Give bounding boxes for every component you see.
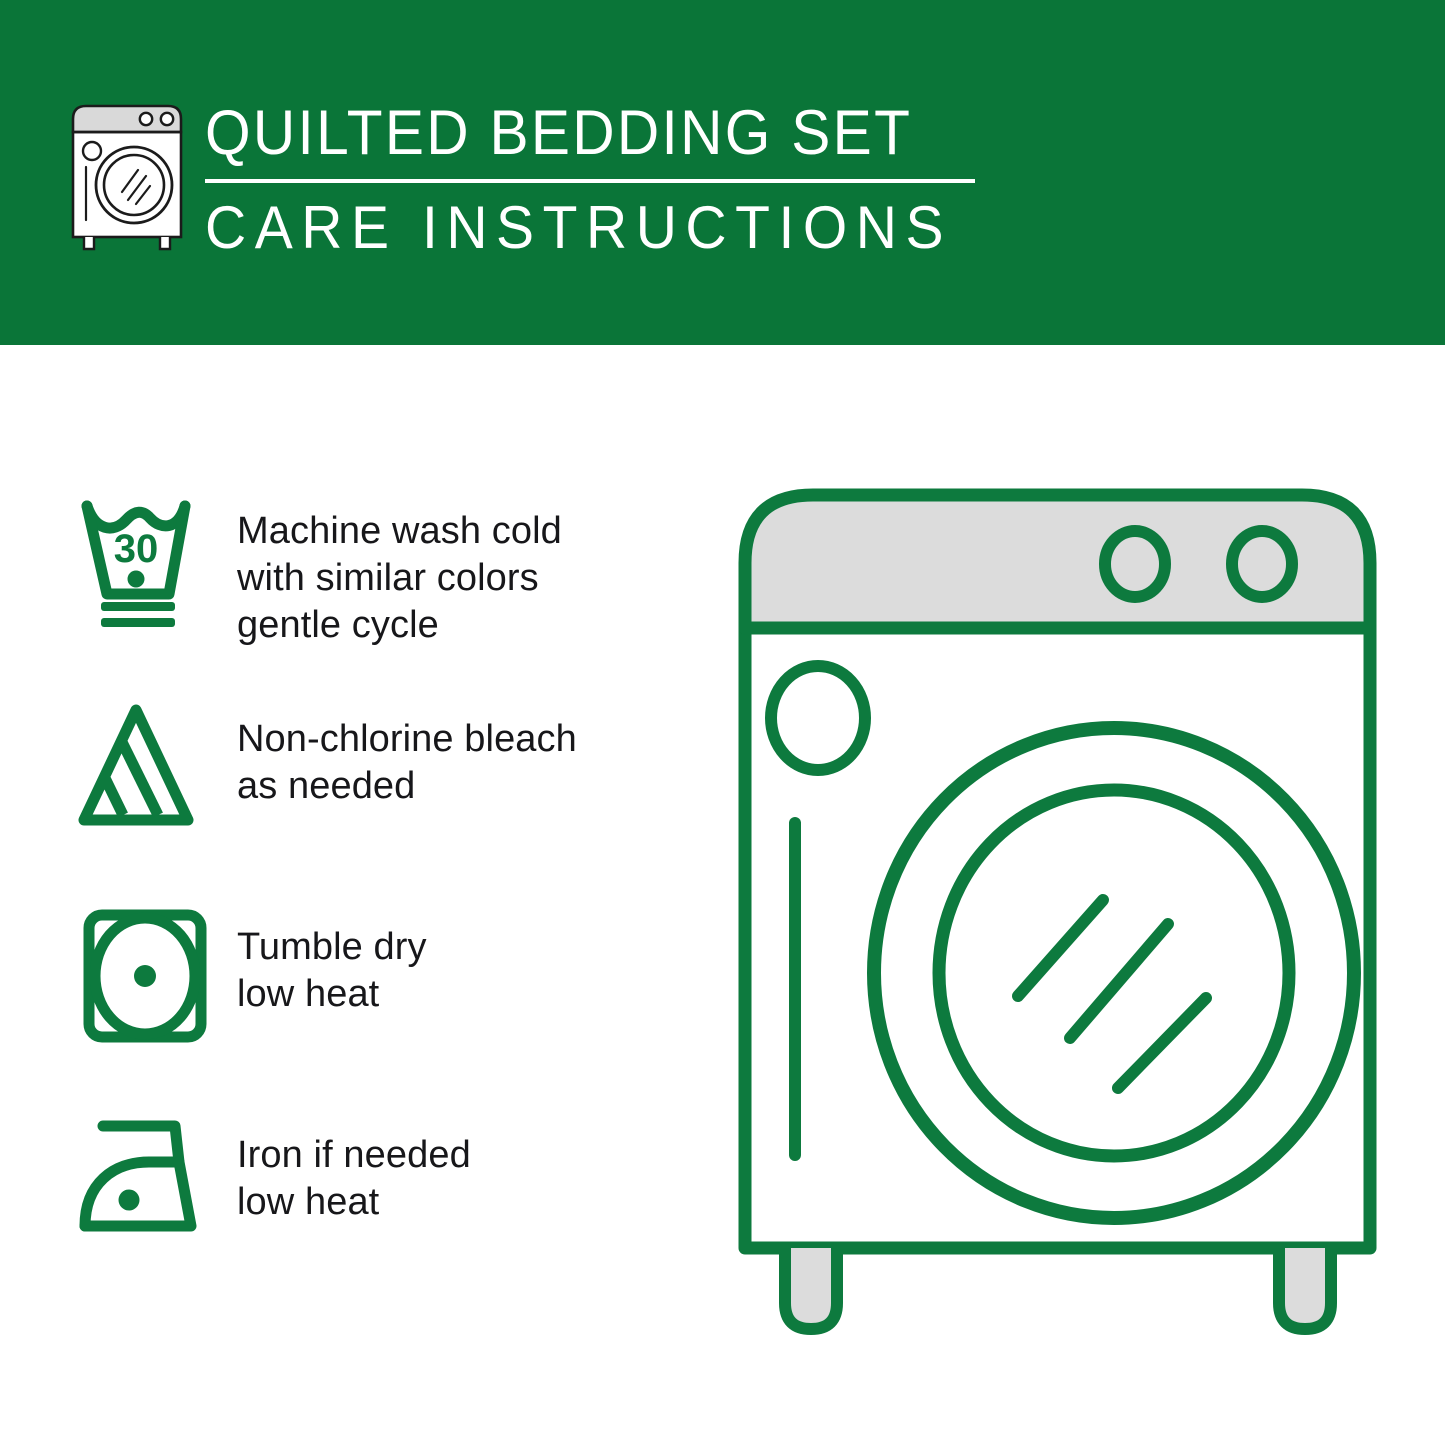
care-row-tumble-dry: Tumble dry low heat bbox=[62, 894, 702, 1102]
front-load-washing-machine-illustration bbox=[718, 468, 1418, 1368]
care-line: Non-chlorine bleach bbox=[237, 716, 702, 763]
care-label-iron: Iron if needed low heat bbox=[237, 1102, 702, 1226]
care-line: Machine wash cold bbox=[237, 508, 702, 555]
title-divider bbox=[205, 179, 975, 183]
non-chlorine-bleach-triangle-icon bbox=[62, 686, 237, 838]
tumble-dry-low-icon bbox=[62, 894, 237, 1046]
care-row-bleach: Non-chlorine bleach as needed bbox=[62, 686, 702, 894]
care-instructions-infographic: QUILTED BEDDING SET CARE INSTRUCTIONS 30 bbox=[0, 0, 1445, 1445]
washing-machine-icon bbox=[62, 100, 192, 255]
page-subtitle: CARE INSTRUCTIONS bbox=[205, 193, 965, 263]
iron-low-heat-icon bbox=[62, 1102, 237, 1244]
care-label-machine-wash: Machine wash cold with similar colors ge… bbox=[237, 478, 702, 649]
header-text-block: QUILTED BEDDING SET CARE INSTRUCTIONS bbox=[205, 96, 1005, 263]
care-label-bleach: Non-chlorine bleach as needed bbox=[237, 686, 702, 810]
care-line: low heat bbox=[237, 971, 702, 1018]
care-line: as needed bbox=[237, 763, 702, 810]
care-line: gentle cycle bbox=[237, 602, 702, 649]
page-title: QUILTED BEDDING SET bbox=[205, 96, 949, 170]
care-label-tumble-dry: Tumble dry low heat bbox=[237, 894, 702, 1018]
care-line: Iron if needed bbox=[237, 1132, 702, 1179]
header-banner: QUILTED BEDDING SET CARE INSTRUCTIONS bbox=[0, 0, 1445, 345]
care-row-machine-wash: 30 Machine wash cold with similar colors… bbox=[62, 478, 702, 686]
svg-text:30: 30 bbox=[113, 527, 158, 571]
care-line: Tumble dry bbox=[237, 924, 702, 971]
wash-tub-30-gentle-icon: 30 bbox=[62, 478, 237, 635]
care-row-iron: Iron if needed low heat bbox=[62, 1102, 702, 1310]
care-instruction-list: 30 Machine wash cold with similar colors… bbox=[62, 478, 702, 1310]
care-line: low heat bbox=[237, 1179, 702, 1226]
care-line: with similar colors bbox=[237, 555, 702, 602]
